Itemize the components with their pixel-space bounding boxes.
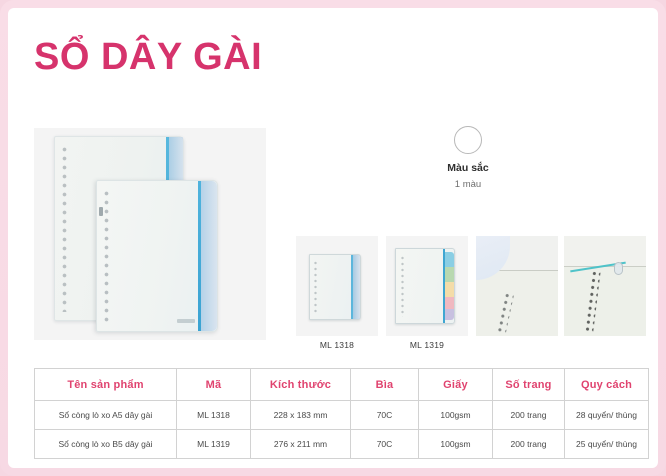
cell-code: ML 1318: [177, 401, 251, 430]
page-title: SỔ DÂY GÀI: [34, 38, 262, 78]
thumbnail-ml1318[interactable]: [296, 236, 378, 336]
cell-product-name: Sổ còng lò xo A5 dây gài: [35, 401, 177, 430]
clasp-detail-photo: [564, 236, 646, 336]
thumbnail-clasp-detail[interactable]: [564, 236, 646, 336]
cell-packing: 28 quyển/ thùng: [565, 401, 649, 430]
page-sheet: SỔ DÂY GÀI Màu sắc: [8, 8, 658, 468]
thumbnail-page-detail[interactable]: [476, 236, 558, 336]
brand-mark: [177, 319, 195, 323]
cell-paper: 100gsm: [419, 401, 493, 430]
cell-cover: 70C: [351, 401, 419, 430]
column-header-pages: Số trang: [493, 369, 565, 401]
hero-illustration: [34, 128, 266, 340]
clasp-icon: [614, 262, 623, 275]
column-header-packing: Quy cách: [565, 369, 649, 401]
paper-sheet: [564, 266, 646, 336]
spiral-rings-icon: [400, 255, 405, 317]
column-header-code: Mã: [177, 369, 251, 401]
cell-code: ML 1319: [177, 430, 251, 459]
hero-product-image: [34, 128, 266, 340]
table-row: Sổ còng lò xo B5 dây gài ML 1319 276 x 2…: [35, 430, 649, 459]
hero-notebook-small: [96, 180, 218, 332]
page-frame: SỔ DÂY GÀI Màu sắc: [0, 0, 666, 476]
column-header-cover: Bìa: [351, 369, 419, 401]
thumbnail-ml1319[interactable]: [386, 236, 468, 336]
color-section: Màu sắc 1 màu: [432, 126, 504, 190]
thumb-notebook-b5: [395, 248, 455, 324]
open-page-photo: [476, 236, 558, 336]
table-header-row: Tên sản phẩm Mã Kích thước Bìa Giấy Số t…: [35, 369, 649, 401]
thumbnail-strip: ML 1318 ML 1319: [296, 236, 636, 354]
cell-product-name: Sổ còng lò xo B5 dây gài: [35, 430, 177, 459]
color-section-label: Màu sắc: [432, 162, 504, 174]
cell-size: 228 x 183 mm: [251, 401, 351, 430]
cell-size: 276 x 211 mm: [251, 430, 351, 459]
color-section-value: 1 màu: [432, 179, 504, 190]
cover-flap: [353, 255, 360, 319]
cell-paper: 100gsm: [419, 430, 493, 459]
cell-cover: 70C: [351, 430, 419, 459]
table-row: Sổ còng lò xo A5 dây gài ML 1318 228 x 1…: [35, 401, 649, 430]
spiral-rings-icon: [102, 189, 111, 323]
thumbnail-caption-ml1319: ML 1319: [386, 340, 468, 350]
column-header-size: Kích thước: [251, 369, 351, 401]
spiral-rings-icon: [60, 145, 69, 312]
thumbnail-caption-ml1318: ML 1318: [296, 340, 378, 350]
specification-table: Tên sản phẩm Mã Kích thước Bìa Giấy Số t…: [34, 368, 649, 459]
cell-packing: 25 quyển/ thùng: [565, 430, 649, 459]
cover-flap: [201, 181, 217, 331]
color-swatch[interactable]: [454, 126, 482, 154]
thumb-notebook-a5: [309, 254, 361, 320]
cell-pages: 200 trang: [493, 401, 565, 430]
column-header-paper: Giấy: [419, 369, 493, 401]
color-divider-tabs: [445, 252, 454, 320]
column-header-product-name: Tên sản phẩm: [35, 369, 177, 401]
paper-sheet: [476, 270, 558, 336]
spiral-rings-icon: [313, 260, 318, 314]
cell-pages: 200 trang: [493, 430, 565, 459]
